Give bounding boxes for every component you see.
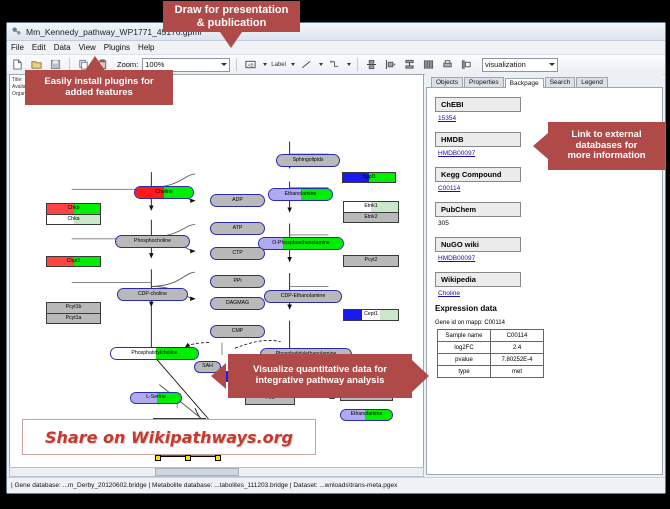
callout-share-text: Share on Wikipathways.org	[45, 428, 293, 447]
node-label: DAGMAG	[226, 301, 249, 306]
expr-val-log2fc: 2.4	[491, 342, 544, 354]
label-dropdown-label: Label	[271, 62, 286, 68]
screenshot-root: Mm_Kennedy_pathway_WP1771_45176.gpml Fil…	[0, 0, 670, 509]
scrollbar-thumb[interactable]	[155, 468, 240, 476]
text-box-icon[interactable]: AB	[243, 57, 258, 72]
node-label: ATP	[233, 226, 243, 231]
node-label: Etnk2	[364, 215, 377, 220]
db-link-chebi[interactable]: 15354	[438, 115, 662, 122]
node-label: CDP-Ethanolamine	[281, 294, 325, 299]
table-row: log2FC 2.4	[438, 342, 544, 354]
expr-key-sample-name: Sample name	[438, 330, 491, 342]
node-dagmag[interactable]: DAGMAG	[210, 297, 265, 310]
node-label: Etnk1	[364, 204, 377, 209]
app-icon	[11, 26, 22, 37]
node-label: CDP-choline	[138, 292, 167, 297]
menu-file[interactable]: File	[11, 43, 24, 52]
node-label: Ethanolamine	[285, 192, 317, 197]
stack-icon[interactable]	[402, 57, 417, 72]
node-ppi[interactable]: PPi	[210, 275, 265, 288]
expr-key-pvalue: pvalue	[438, 354, 491, 366]
node-label: Pcyt2	[365, 258, 378, 263]
menu-data[interactable]: Data	[54, 43, 71, 52]
svg-text:AB: AB	[248, 62, 254, 67]
db-link-nugo[interactable]: HMDB00097	[438, 255, 662, 262]
toolbar-separator-3	[357, 58, 358, 71]
new-file-icon[interactable]	[10, 57, 25, 72]
line-icon[interactable]	[299, 57, 314, 72]
node-phosphocholine[interactable]: Phosphocholine	[115, 235, 190, 248]
node-label: Choline	[155, 190, 173, 195]
node-choline-top[interactable]: Choline	[134, 186, 194, 199]
line-chevron-icon[interactable]	[319, 63, 323, 66]
pathway-canvas[interactable]: Title: Available Organism	[9, 74, 424, 475]
gene-id-on-mapp: Gene id on mapp: C00114	[435, 320, 662, 326]
order-icon[interactable]	[459, 57, 474, 72]
node-cdp-ethanolamine[interactable]: CDP-Ethanolamine	[264, 290, 342, 303]
node-cmp[interactable]: CMP	[210, 325, 265, 338]
expr-key-type: type	[438, 366, 491, 378]
menu-view[interactable]: View	[79, 43, 96, 52]
side-panel-tabs[interactable]: Objects Properties Backpage Search Legen…	[426, 74, 663, 88]
chevron-down-icon[interactable]	[221, 63, 227, 66]
align-icon[interactable]	[364, 57, 379, 72]
node-phosphatidylcholine[interactable]: Phosphatidylcholine	[110, 347, 199, 360]
expr-val-type: met	[491, 366, 544, 378]
callout-plugins-text: Easily install plugins for added feature…	[44, 77, 153, 99]
expression-table: Sample name C00114 log2FC 2.4 pvalue 7.8…	[437, 329, 544, 378]
menubar[interactable]: File Edit Data View Plugins Help	[7, 41, 665, 55]
node-etnk1[interactable]: Etnk1	[343, 201, 399, 212]
visualization-value: visualization	[485, 60, 526, 69]
callout-draw: Draw for presentation & publication	[163, 1, 300, 32]
node-label: O-Phosphoethanolamine	[272, 241, 329, 246]
callout-visualize: Visualize quantitative data for integrat…	[228, 354, 412, 398]
callout-visualize-text: Visualize quantitative data for integrat…	[253, 365, 387, 387]
node-label: ADP	[232, 198, 243, 203]
node-label: Chpt1	[67, 259, 81, 264]
db-header-wikipedia: Wikipedia	[435, 272, 521, 287]
node-label: Phosphatidylcholine	[131, 351, 177, 356]
node-label: Chka	[67, 217, 79, 222]
expr-val-sample-name: C00114	[491, 330, 544, 342]
callout-links-text: Link to external databases for more info…	[567, 130, 645, 163]
node-label: Sphingolipids	[293, 158, 324, 163]
node-pcyt2[interactable]: Pcyt2	[343, 255, 399, 267]
node-pcyt1b[interactable]: Pcyt1b	[46, 302, 101, 313]
node-l-serine-left[interactable]: L-Serine	[130, 392, 182, 404]
db-header-chebi: ChEBI	[435, 97, 521, 112]
node-label: L-Serine	[146, 395, 166, 400]
node-label: CMP	[232, 329, 244, 334]
db-header-hmdb: HMDB	[435, 132, 521, 147]
db-link-wikipedia[interactable]: Choline	[438, 290, 662, 297]
connector-chevron-icon[interactable]	[347, 63, 351, 66]
label-chevron-icon[interactable]	[291, 63, 295, 66]
menu-plugins[interactable]: Plugins	[104, 43, 130, 52]
node-chpt1[interactable]: Chpt1	[46, 256, 101, 267]
zoom-label: Zoom:	[117, 60, 138, 69]
toolbar-separator-2	[236, 58, 237, 71]
node-label: Pcyt1b	[66, 305, 82, 310]
zoom-value: 100%	[145, 60, 164, 69]
distribute-icon[interactable]	[383, 57, 398, 72]
node-o-phosphoethanolamine[interactable]: O-Phosphoethanolamine	[258, 237, 344, 250]
table-row: Sample name C00114	[438, 330, 544, 342]
callout-draw-text: Draw for presentation & publication	[175, 4, 289, 29]
node-atp[interactable]: ATP	[210, 222, 265, 235]
tab-legend[interactable]: Legend	[576, 77, 608, 88]
node-label: Sgpl1	[362, 175, 375, 180]
node-ethanolamine-top[interactable]: Ethanolamine	[268, 188, 333, 201]
callout-draw-arrow-icon	[220, 32, 242, 48]
callout-links-arrow-icon	[533, 133, 548, 159]
statusbar: | Gene database: ...m_Derby_20120602.bri…	[7, 477, 665, 493]
node-ethanolamine-bottom[interactable]: Ethanolamine	[340, 409, 393, 421]
node-chkb[interactable]: Chkb	[46, 203, 101, 214]
node-label: Pcyt1a	[66, 316, 82, 321]
db-link-kegg[interactable]: C00114	[438, 185, 662, 192]
menu-help[interactable]: Help	[138, 43, 154, 52]
db-header-pubchem: PubChem	[435, 202, 521, 217]
visualization-chevron-icon[interactable]	[549, 63, 555, 66]
node-pcyt1a[interactable]: Pcyt1a	[46, 313, 101, 324]
text-box-chevron-icon[interactable]	[263, 63, 267, 66]
tab-search[interactable]: Search	[545, 77, 576, 88]
node-sphingolipids[interactable]: Sphingolipids	[276, 154, 340, 167]
callout-visualize-arrow-left-icon	[211, 363, 226, 389]
window-titlebar: Mm_Kennedy_pathway_WP1771_45176.gpml	[7, 23, 665, 41]
statusbar-text: | Gene database: ...m_Derby_20120602.bri…	[11, 482, 397, 489]
node-ctp[interactable]: CTP	[210, 247, 265, 260]
tab-objects[interactable]: Objects	[431, 77, 463, 88]
callout-plugins-arrow-icon	[84, 56, 106, 72]
expr-val-pvalue: 7.80252E-4	[491, 354, 544, 366]
node-label: Phosphocholine	[134, 239, 171, 244]
node-label: CTP	[232, 251, 242, 256]
tab-backpage[interactable]: Backpage	[505, 78, 544, 89]
callout-visualize-arrow-right-icon	[412, 360, 429, 392]
node-cdp-choline[interactable]: CDP-choline	[117, 288, 188, 301]
db-header-nugo: NuGO wiki	[435, 237, 521, 252]
visualization-combo[interactable]: visualization	[482, 58, 558, 72]
node-etnk2[interactable]: Etnk2	[343, 212, 399, 223]
node-sgpl1[interactable]: Sgpl1	[342, 172, 396, 183]
group-icon[interactable]	[421, 57, 436, 72]
print-icon[interactable]	[440, 57, 455, 72]
db-value-pubchem: 305	[438, 220, 662, 227]
tab-properties[interactable]: Properties	[464, 77, 504, 88]
connector-icon[interactable]	[327, 57, 342, 72]
node-label: Cept1	[364, 312, 378, 317]
menu-edit[interactable]: Edit	[32, 43, 46, 52]
node-label: Ethanolamine	[351, 412, 383, 417]
callout-links: Link to external databases for more info…	[548, 122, 665, 170]
node-adp[interactable]: ADP	[210, 194, 265, 207]
node-label: Chkb	[67, 206, 79, 211]
expr-key-log2fc: log2FC	[438, 342, 491, 354]
db-header-kegg: Kegg Compound	[435, 167, 521, 182]
node-cept1[interactable]: Cept1	[343, 309, 399, 321]
expression-data-heading: Expression data	[435, 304, 662, 313]
node-label: PPi	[233, 279, 241, 284]
callout-plugins: Easily install plugins for added feature…	[25, 70, 173, 105]
table-row: pvalue 7.80252E-4	[438, 354, 544, 366]
canvas-horizontal-scrollbar[interactable]	[9, 467, 424, 477]
callout-share: Share on Wikipathways.org	[22, 419, 316, 455]
node-chka[interactable]: Chka	[46, 214, 101, 225]
table-row: type met	[438, 366, 544, 378]
